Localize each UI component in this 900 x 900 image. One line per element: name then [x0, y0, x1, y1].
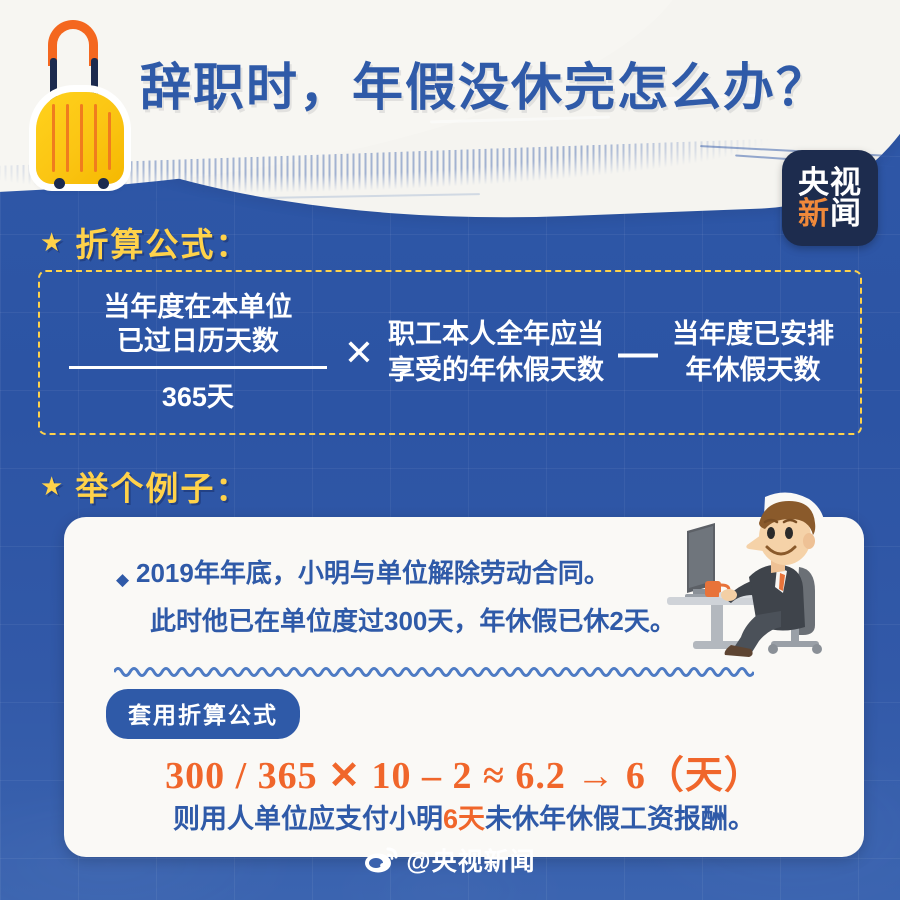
calculation-expression: 300 / 365 ✕ 10 – 2 ≈ 6.2 → 6（天）	[64, 744, 864, 799]
apply-formula-badge: 套用折算公式	[106, 689, 300, 739]
formula-term-minus-line-2: 年休假天数	[672, 353, 834, 388]
suitcase-stripe	[80, 104, 83, 172]
section-heading-formula-label: 折算公式：	[75, 218, 250, 266]
formula-multiply-operator: ✕	[344, 335, 374, 371]
example-line-2: 此时他已在单位度过300天，年休假已休2天。	[150, 601, 676, 638]
man-at-computer-illustration	[653, 489, 858, 664]
formula-box: 当年度在本单位 已过日历天数 365天 ✕ 职工本人全年应当 享受的年休假天数 …	[38, 270, 862, 435]
logo-char-xin: 新	[798, 198, 830, 229]
footer: @央视新闻	[0, 842, 900, 878]
section-heading-formula: ★ 折算公式：	[40, 218, 250, 266]
logo-line-2: 新 闻	[798, 198, 862, 229]
suitcase-stripe	[52, 104, 55, 172]
star-icon: ★	[40, 473, 65, 499]
section-heading-example-label: 举个例子：	[75, 462, 250, 510]
formula-fraction: 当年度在本单位 已过日历天数 365天	[66, 291, 330, 414]
suitcase-wheel-right	[98, 178, 109, 189]
conclusion-suffix: 未休年休假工资报酬。	[485, 804, 755, 834]
formula-numerator: 当年度在本单位 已过日历天数	[103, 291, 292, 359]
suitcase-wheel-left	[54, 178, 65, 189]
example-line-1: 2019年年底，小明与单位解除劳动合同。	[136, 553, 610, 590]
formula-fraction-bar	[69, 366, 327, 369]
formula-term-multiply: 职工本人全年应当 享受的年休假天数	[388, 317, 604, 387]
formula-minus-operator: —	[618, 333, 658, 373]
footer-handle: @央视新闻	[406, 842, 535, 878]
weibo-icon	[364, 846, 398, 874]
conclusion-highlight: 6天	[443, 804, 485, 834]
wavy-divider	[114, 665, 754, 679]
logo-char-shi: 视	[830, 167, 862, 198]
suitcase-stripe	[108, 112, 111, 170]
formula-term-multiply-line-1: 职工本人全年应当	[388, 317, 604, 352]
suitcase-body	[36, 92, 124, 184]
logo-line-1: 央 视	[798, 167, 862, 198]
page-title: 辞职时，年假没休完怎么办？	[140, 46, 829, 120]
example-card: ◆ 2019年年底，小明与单位解除劳动合同。 此时他已在单位度过300天，年休假…	[64, 517, 864, 857]
infographic-poster: 辞职时，年假没休完怎么办？ 央 视 新 闻 ★ 折算公式： 当年度在本单位 已过…	[0, 0, 900, 900]
formula-term-multiply-line-2: 享受的年休假天数	[388, 353, 604, 388]
formula-term-minus-line-1: 当年度已安排	[672, 317, 834, 352]
suitcase-icon	[22, 18, 132, 188]
section-heading-example: ★ 举个例子：	[40, 462, 250, 510]
suitcase-stripe	[94, 104, 97, 172]
logo-char-wen: 闻	[830, 198, 862, 229]
formula-numerator-line-1: 当年度在本单位	[103, 291, 292, 325]
star-icon: ★	[40, 229, 65, 255]
conclusion-line: 则用人单位应支付小明6天未休年休假工资报酬。	[64, 797, 864, 836]
conclusion-prefix: 则用人单位应支付小明	[173, 804, 443, 834]
logo-char-yang: 央	[798, 167, 830, 198]
cctv-news-logo: 央 视 新 闻	[782, 150, 878, 246]
diamond-bullet-icon: ◆	[116, 570, 129, 590]
suitcase-stripe	[66, 104, 69, 172]
formula-numerator-line-2: 已过日历天数	[103, 325, 292, 359]
formula-term-minus: 当年度已安排 年休假天数	[672, 317, 834, 387]
formula-denominator: 365天	[162, 375, 234, 414]
